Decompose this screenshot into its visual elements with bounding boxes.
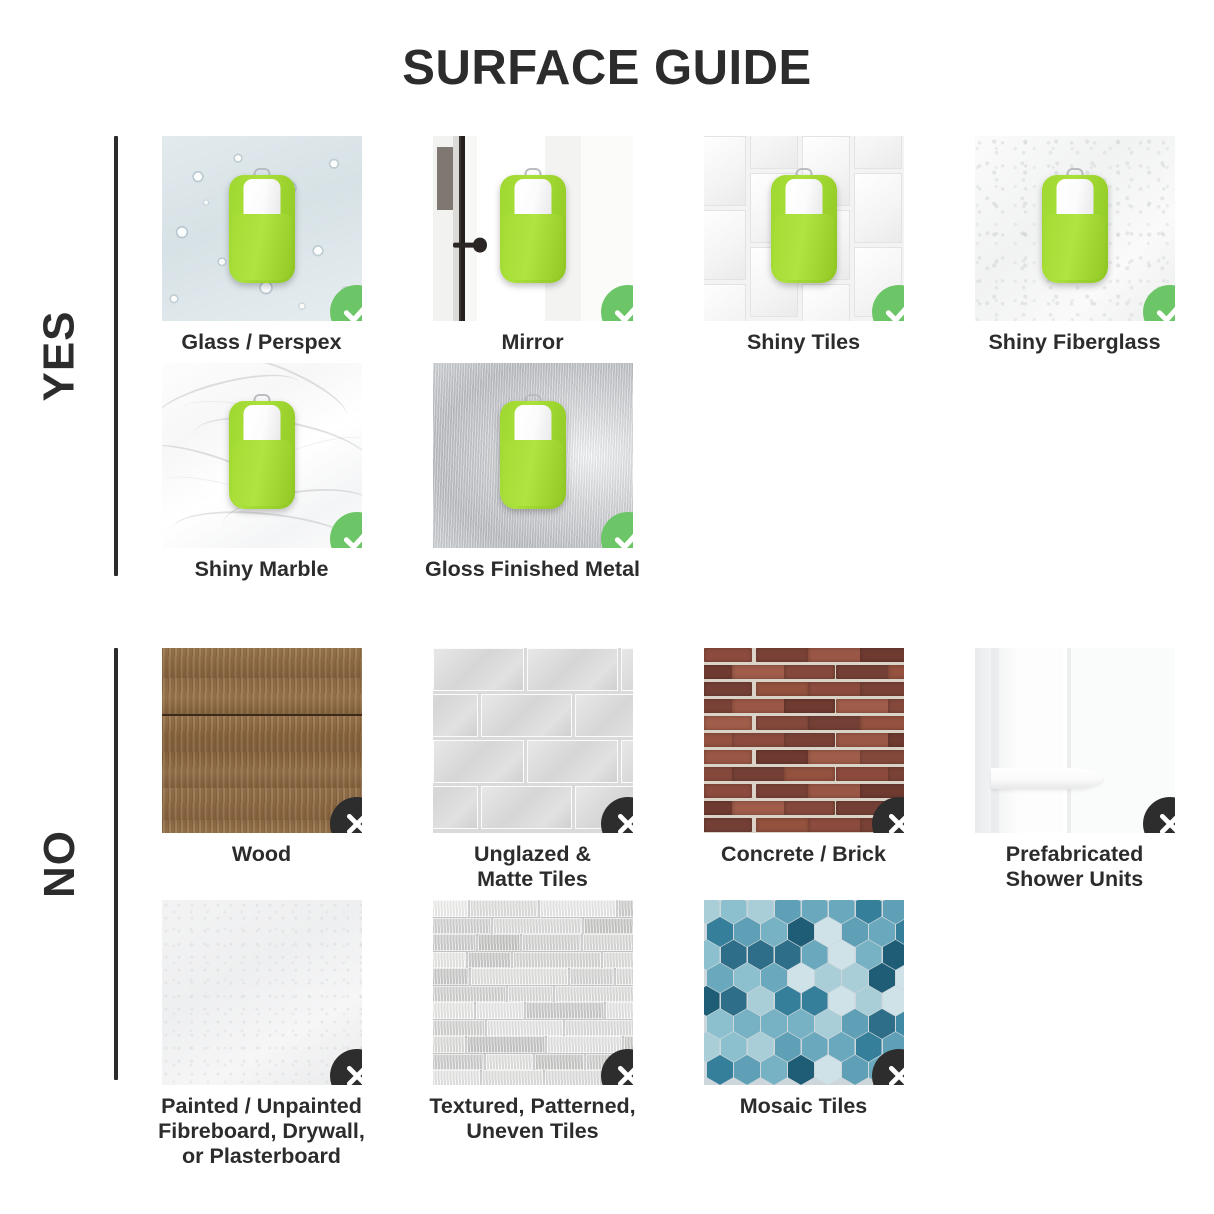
surface-guide-page: SURFACE GUIDE YES Glass / PerspexMirrorS… — [0, 0, 1214, 1214]
product-body — [229, 175, 295, 283]
surface-label: Gloss Finished Metal — [419, 557, 646, 582]
tile-unit — [854, 136, 902, 169]
surface-card[interactable]: Prefabricated Shower Units — [961, 648, 1188, 892]
stone-strip — [618, 900, 633, 917]
surface-thumbnail — [704, 900, 904, 1085]
brick-unit — [836, 767, 892, 781]
door-handle — [453, 238, 487, 253]
mosaic-hex — [842, 917, 868, 947]
surface-label: Painted / Unpainted Fibreboard, Drywall,… — [148, 1094, 375, 1169]
cross-icon — [1143, 797, 1175, 833]
brick-unit — [888, 767, 904, 781]
yes-axis-text: YES — [35, 310, 85, 401]
brick-unit — [808, 818, 866, 832]
brick-unit — [860, 784, 904, 798]
product-dispenser — [229, 401, 295, 509]
mosaic-hex — [761, 1055, 787, 1085]
brick-unit — [808, 648, 866, 662]
mosaic-hex — [788, 1009, 814, 1039]
mosaic-hex — [788, 917, 814, 947]
stone-strip — [471, 968, 568, 985]
mosaic-hex — [856, 986, 882, 1016]
product-pocket — [503, 440, 563, 506]
brick-unit — [784, 665, 835, 679]
tile-unit — [750, 136, 798, 169]
surface-card[interactable]: Mosaic Tiles — [690, 900, 917, 1169]
product-pocket — [774, 214, 834, 280]
surface-label: Shiny Tiles — [690, 330, 917, 355]
stone-strip — [482, 1070, 543, 1085]
stone-strip — [522, 934, 581, 951]
surface-card[interactable]: Textured, Patterned, Uneven Tiles — [419, 900, 646, 1169]
brick-unit — [704, 784, 752, 798]
brick-unit — [756, 784, 809, 798]
brick-unit — [860, 716, 904, 730]
surface-thumbnail — [162, 136, 362, 321]
surface-label: Shiny Marble — [148, 557, 375, 582]
yes-divider — [114, 136, 118, 576]
stone-strip — [433, 986, 506, 1002]
brick-unit — [756, 648, 809, 662]
wood-plank — [162, 752, 362, 790]
mosaic-hex — [842, 1055, 868, 1085]
tile-unit — [481, 694, 572, 737]
stone-strip — [467, 1036, 545, 1053]
mosaic-hex — [761, 917, 787, 947]
shower-ledge — [991, 768, 1103, 788]
check-icon — [601, 285, 633, 321]
surface-label: Unglazed & Matte Tiles — [419, 842, 646, 892]
brick-unit — [704, 682, 752, 696]
surface-thumbnail — [433, 363, 633, 548]
brick-unit — [756, 818, 809, 832]
brick-unit — [704, 699, 735, 713]
brick-unit — [808, 750, 866, 764]
surface-thumbnail — [162, 648, 362, 833]
surface-card[interactable]: Wood — [148, 648, 375, 892]
brick-unit — [836, 665, 892, 679]
check-icon — [330, 285, 362, 321]
brick-unit — [756, 750, 809, 764]
stone-strip — [433, 1070, 480, 1085]
mosaic-hex — [829, 1032, 855, 1062]
mosaic-hex — [761, 963, 787, 993]
brick-unit — [836, 699, 892, 713]
mosaic-hex — [802, 986, 828, 1016]
check-icon — [601, 512, 633, 548]
stone-strip — [616, 968, 633, 985]
brick-unit — [888, 733, 904, 747]
no-axis-text: NO — [35, 830, 85, 898]
brick-unit — [704, 801, 735, 815]
door-edge — [461, 136, 465, 321]
mosaic-hex — [815, 1009, 841, 1039]
stone-strip — [547, 1036, 622, 1053]
brick-unit — [836, 733, 892, 747]
tile-unit — [575, 694, 633, 737]
stone-strip — [433, 1054, 484, 1070]
mosaic-hex — [707, 917, 733, 947]
tile-unit — [433, 740, 524, 783]
brick-unit — [784, 801, 835, 815]
surface-thumbnail — [975, 648, 1175, 833]
surface-thumbnail — [975, 136, 1175, 321]
mosaic-hex — [734, 963, 760, 993]
surface-thumbnail — [433, 136, 633, 321]
surface-card[interactable]: Shiny Marble — [148, 363, 375, 582]
mosaic-hex — [748, 986, 774, 1016]
stone-strip — [526, 1002, 604, 1019]
stone-strip — [468, 952, 511, 968]
no-grid: WoodUnglazed & Matte TilesConcrete / Bri… — [148, 648, 1188, 1169]
wood-plank — [162, 678, 362, 716]
check-icon — [1143, 285, 1175, 321]
product-body — [1042, 175, 1108, 283]
mosaic-hex — [761, 1009, 787, 1039]
surface-card[interactable]: Mirror — [419, 136, 646, 355]
product-dispenser — [229, 175, 295, 283]
tile-unit — [621, 740, 633, 783]
mosaic-hex — [748, 1032, 774, 1062]
tile-unit — [854, 173, 902, 243]
yes-axis-label: YES — [0, 136, 120, 576]
brick-unit — [808, 716, 866, 730]
mosaic-hex — [829, 986, 855, 1016]
tile-unit — [481, 786, 572, 829]
surface-thumbnail — [433, 648, 633, 833]
surface-thumbnail — [704, 136, 904, 321]
mosaic-hex — [869, 1009, 895, 1039]
brick-unit — [704, 716, 752, 730]
surface-thumbnail — [162, 900, 362, 1085]
product-body — [771, 175, 837, 283]
product-dispenser — [500, 401, 566, 509]
stone-strip — [476, 1002, 524, 1019]
mosaic-hex — [734, 1009, 760, 1039]
surface-label: Concrete / Brick — [690, 842, 917, 867]
product-pocket — [232, 214, 292, 280]
brick-unit — [784, 767, 835, 781]
stone-strip — [540, 900, 616, 917]
yes-grid: Glass / PerspexMirrorShiny TilesShiny Fi… — [148, 136, 1188, 582]
mosaic-hex — [775, 986, 801, 1016]
brick-unit — [756, 716, 809, 730]
surface-card[interactable]: Concrete / Brick — [690, 648, 917, 892]
brick-unit — [704, 767, 735, 781]
panel-shading — [975, 648, 1019, 833]
brick-unit — [860, 648, 904, 662]
stone-strip — [570, 968, 614, 985]
stone-strip — [606, 1002, 633, 1019]
tile-unit — [704, 284, 746, 321]
surface-label: Mosaic Tiles — [690, 1094, 917, 1119]
product-pocket — [503, 214, 563, 280]
surface-card[interactable]: Gloss Finished Metal — [419, 363, 646, 582]
mosaic-hex — [815, 917, 841, 947]
brick-unit — [704, 750, 752, 764]
stone-strip — [478, 934, 520, 951]
tile-unit — [433, 786, 478, 829]
product-dispenser — [771, 175, 837, 283]
brick-unit — [704, 648, 752, 662]
surface-label: Shiny Fiberglass — [961, 330, 1188, 355]
brick-unit — [756, 682, 809, 696]
mosaic-hex — [748, 940, 774, 970]
wood-plank — [162, 716, 362, 754]
stone-strip — [535, 1054, 584, 1070]
mosaic-hex — [856, 940, 882, 970]
mosaic-hex — [802, 940, 828, 970]
surface-label: Mirror — [419, 330, 646, 355]
brick-unit — [704, 665, 735, 679]
stone-strip — [508, 986, 553, 1002]
mosaic-hex — [842, 1009, 868, 1039]
surface-thumbnail — [433, 900, 633, 1085]
tile-unit — [433, 694, 478, 737]
mosaic-hex — [775, 1032, 801, 1062]
mosaic-hex — [734, 1055, 760, 1085]
brick-unit — [732, 665, 792, 679]
surface-card[interactable]: Painted / Unpainted Fibreboard, Drywall,… — [148, 900, 375, 1169]
brick-unit — [888, 699, 904, 713]
surface-thumbnail — [704, 648, 904, 833]
stone-strip — [433, 900, 468, 917]
surface-card[interactable]: Glass / Perspex — [148, 136, 375, 355]
stone-strip — [433, 968, 469, 985]
brick-unit — [808, 784, 866, 798]
mosaic-hex — [815, 1055, 841, 1085]
stone-strip — [433, 1020, 485, 1036]
stone-strip — [555, 986, 633, 1002]
tile-unit — [802, 284, 850, 321]
brick-unit — [732, 767, 792, 781]
page-title: SURFACE GUIDE — [0, 44, 1214, 93]
stone-strip — [433, 918, 491, 934]
mosaic-hex — [707, 1009, 733, 1039]
stone-strip — [470, 900, 538, 917]
mosaic-hex — [707, 1055, 733, 1085]
door-frame-bar — [437, 147, 453, 210]
surface-thumbnail — [162, 363, 362, 548]
stone-strip — [565, 1020, 633, 1036]
product-body — [229, 401, 295, 509]
no-divider — [114, 648, 118, 1080]
mosaic-hex — [815, 963, 841, 993]
mosaic-hex — [869, 917, 895, 947]
brick-unit — [784, 733, 835, 747]
stone-strip — [433, 1036, 465, 1053]
product-body — [500, 175, 566, 283]
tile-unit — [527, 740, 618, 783]
tile-unit — [527, 648, 618, 691]
stone-strip — [487, 1020, 563, 1036]
mosaic-hex — [734, 917, 760, 947]
product-pocket — [232, 440, 292, 506]
brick-unit — [704, 818, 752, 832]
mosaic-hex — [842, 963, 868, 993]
brick-unit — [888, 665, 904, 679]
product-pocket — [1045, 214, 1105, 280]
stone-strip — [603, 952, 633, 968]
brick-unit — [860, 682, 904, 696]
stone-strip — [513, 952, 601, 968]
stone-strip — [486, 1054, 533, 1070]
surface-label: Textured, Patterned, Uneven Tiles — [419, 1094, 646, 1144]
stone-strip — [583, 934, 633, 951]
mosaic-hex — [721, 986, 747, 1016]
mosaic-hex — [721, 940, 747, 970]
tile-unit — [433, 648, 524, 691]
stone-strip — [433, 952, 466, 968]
tile-unit — [704, 210, 746, 280]
mosaic-hex — [707, 963, 733, 993]
brick-unit — [732, 699, 792, 713]
brick-unit — [808, 682, 866, 696]
surface-label: Wood — [148, 842, 375, 867]
stone-strip — [433, 934, 476, 951]
wood-plank — [162, 648, 362, 680]
cross-icon — [330, 1049, 362, 1085]
mosaic-hex — [802, 1032, 828, 1062]
brick-unit — [732, 801, 792, 815]
surface-label: Glass / Perspex — [148, 330, 375, 355]
product-dispenser — [500, 175, 566, 283]
surface-label: Prefabricated Shower Units — [961, 842, 1188, 892]
product-dispenser — [1042, 175, 1108, 283]
surface-card[interactable]: Shiny Tiles — [690, 136, 917, 355]
product-body — [500, 401, 566, 509]
stone-strip — [433, 1002, 474, 1019]
mosaic-hex — [775, 940, 801, 970]
stone-strip — [584, 918, 633, 934]
mosaic-hex — [869, 963, 895, 993]
tile-unit — [621, 648, 633, 691]
surface-card[interactable]: Unglazed & Matte Tiles — [419, 648, 646, 892]
mosaic-hex — [721, 1032, 747, 1062]
mosaic-hex — [788, 963, 814, 993]
brick-unit — [704, 733, 735, 747]
mosaic-hex — [829, 940, 855, 970]
stone-strip — [493, 918, 582, 934]
surface-card[interactable]: Shiny Fiberglass — [961, 136, 1188, 355]
tile-unit — [704, 136, 746, 206]
no-axis-label: NO — [0, 648, 120, 1080]
brick-unit — [860, 750, 904, 764]
brick-unit — [732, 733, 792, 747]
brick-unit — [784, 699, 835, 713]
mosaic-hex — [788, 1055, 814, 1085]
